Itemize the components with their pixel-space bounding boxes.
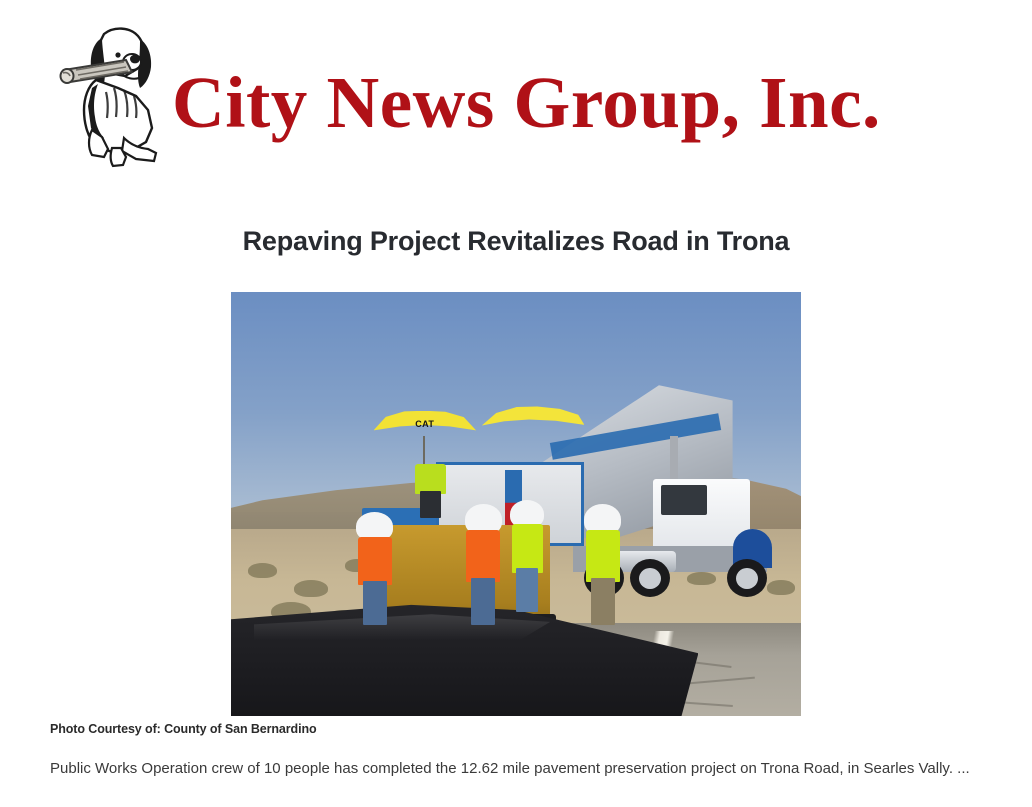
worker-green-vest-left xyxy=(465,504,502,623)
scrub-bush xyxy=(687,572,716,585)
site-masthead: City News Group, Inc. xyxy=(0,0,1032,182)
article-headline: Repaving Project Revitalizes Road in Tro… xyxy=(0,226,1032,257)
worker-green-vest-mid xyxy=(510,500,544,610)
article-body: Public Works Operation crew of 10 people… xyxy=(50,755,990,783)
worker-orange-vest xyxy=(356,512,393,622)
site-logo-text: City News Group, Inc. xyxy=(172,64,881,142)
truck-wheel xyxy=(727,559,767,597)
article-photo: CAT xyxy=(231,292,801,716)
worker-green-vest-right xyxy=(584,504,621,623)
photo-scene: CAT xyxy=(231,292,801,716)
photo-credit: Photo Courtesy of: County of San Bernard… xyxy=(50,722,317,736)
scrub-bush xyxy=(767,580,796,595)
truck-wheel xyxy=(630,559,670,597)
site-logo[interactable]: City News Group, Inc. xyxy=(52,22,982,170)
worker-operator xyxy=(413,449,447,517)
scrub-bush xyxy=(294,580,328,597)
cat-umbrella-label: CAT xyxy=(399,419,450,429)
scrub-bush xyxy=(248,563,277,578)
dog-with-newspaper-logo-icon xyxy=(52,22,192,170)
dump-truck-window xyxy=(661,485,707,515)
